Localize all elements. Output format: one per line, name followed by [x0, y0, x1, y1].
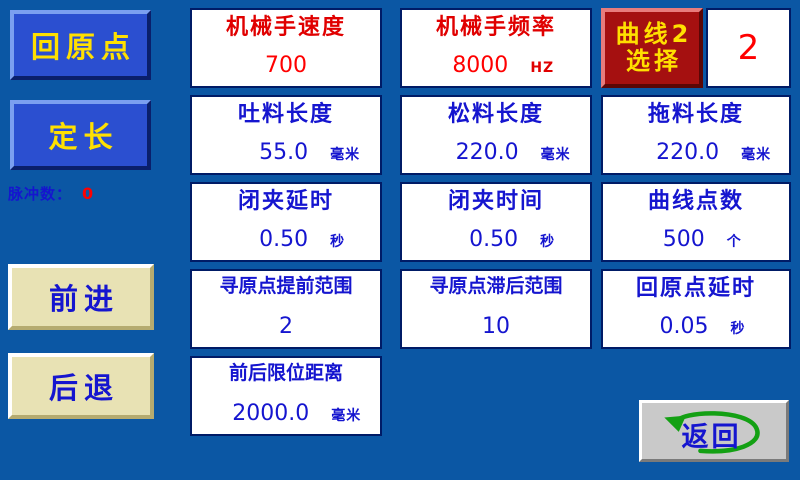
panel-title: 机械手频率 [412, 16, 580, 39]
panel-value: 0.05 [659, 314, 708, 339]
forward-button[interactable]: 前进 [8, 264, 154, 330]
panel-title: 闭夹时间 [412, 190, 580, 213]
panel-value: 55.0 [259, 140, 308, 165]
panel-loose-material-length[interactable]: 松料长度 220.0 毫米 [400, 95, 592, 175]
home-origin-button[interactable]: 回原点 [10, 10, 151, 80]
panel-title: 前后限位距离 [202, 364, 370, 384]
panel-title: 松料长度 [412, 103, 580, 126]
panel-title: 闭夹延时 [202, 190, 370, 213]
fixed-length-button[interactable]: 定长 [10, 100, 151, 170]
curve-select-label-line1: 曲线2 [612, 21, 693, 48]
backward-button[interactable]: 后退 [8, 353, 154, 419]
return-button-label: 返回 [679, 415, 742, 454]
panel-unit: 毫米 [741, 144, 771, 164]
panel-front-rear-limit-distance[interactable]: 前后限位距离 2000.0 毫米 [190, 356, 382, 436]
curve-select-value-display: 2 [706, 8, 791, 88]
panel-unit: 毫米 [541, 144, 571, 164]
return-button[interactable]: 返回 [639, 400, 789, 462]
pulse-counter-label: 脉冲数： [8, 183, 72, 204]
curve-select-label-line2: 选择 [622, 48, 682, 75]
hmi-screen: 回原点 定长 脉冲数： 0 前进 后退 机械手速度 700 机械手频率 8000… [0, 0, 800, 480]
panel-title: 机械手速度 [202, 16, 370, 39]
panel-title: 寻原点提前范围 [202, 277, 370, 297]
panel-clamp-close-time[interactable]: 闭夹时间 0.50 秒 [400, 182, 592, 262]
panel-drag-material-length[interactable]: 拖料长度 220.0 毫米 [601, 95, 791, 175]
panel-title: 吐料长度 [202, 103, 370, 126]
panel-value: 0.50 [259, 227, 308, 252]
panel-unit: 个 [727, 231, 742, 251]
pulse-counter-value: 0 [82, 184, 93, 203]
panel-title: 拖料长度 [613, 103, 779, 126]
panel-manipulator-speed[interactable]: 机械手速度 700 [190, 8, 382, 88]
panel-title: 曲线点数 [613, 190, 779, 213]
panel-value: 500 [663, 227, 705, 252]
panel-feed-out-length[interactable]: 吐料长度 55.0 毫米 [190, 95, 382, 175]
panel-value: 220.0 [456, 140, 519, 165]
panel-origin-return-delay[interactable]: 回原点延时 0.05 秒 [601, 269, 791, 349]
panel-unit: 秒 [330, 231, 345, 251]
panel-value: 700 [265, 53, 307, 78]
panel-unit: HZ [530, 60, 554, 76]
panel-unit: 秒 [540, 231, 555, 251]
pulse-counter: 脉冲数： 0 [8, 183, 93, 204]
panel-title: 回原点延时 [613, 277, 779, 300]
panel-unit: 毫米 [331, 405, 361, 425]
panel-unit: 秒 [730, 318, 745, 338]
panel-title: 寻原点滞后范围 [412, 277, 580, 297]
panel-origin-lead-range[interactable]: 寻原点提前范围 2 [190, 269, 382, 349]
panel-value: 2000.0 [232, 401, 309, 426]
panel-value: 220.0 [656, 140, 719, 165]
panel-manipulator-frequency[interactable]: 机械手频率 8000 HZ [400, 8, 592, 88]
panel-clamp-close-delay[interactable]: 闭夹延时 0.50 秒 [190, 182, 382, 262]
panel-value: 2 [279, 314, 293, 339]
curve-select-button[interactable]: 曲线2 选择 [601, 8, 703, 88]
curve-select-value: 2 [738, 28, 760, 68]
panel-origin-lag-range[interactable]: 寻原点滞后范围 10 [400, 269, 592, 349]
panel-value: 0.50 [469, 227, 518, 252]
panel-curve-point-count[interactable]: 曲线点数 500 个 [601, 182, 791, 262]
panel-unit: 毫米 [330, 144, 360, 164]
panel-value: 10 [482, 314, 510, 339]
panel-value: 8000 [452, 53, 508, 78]
